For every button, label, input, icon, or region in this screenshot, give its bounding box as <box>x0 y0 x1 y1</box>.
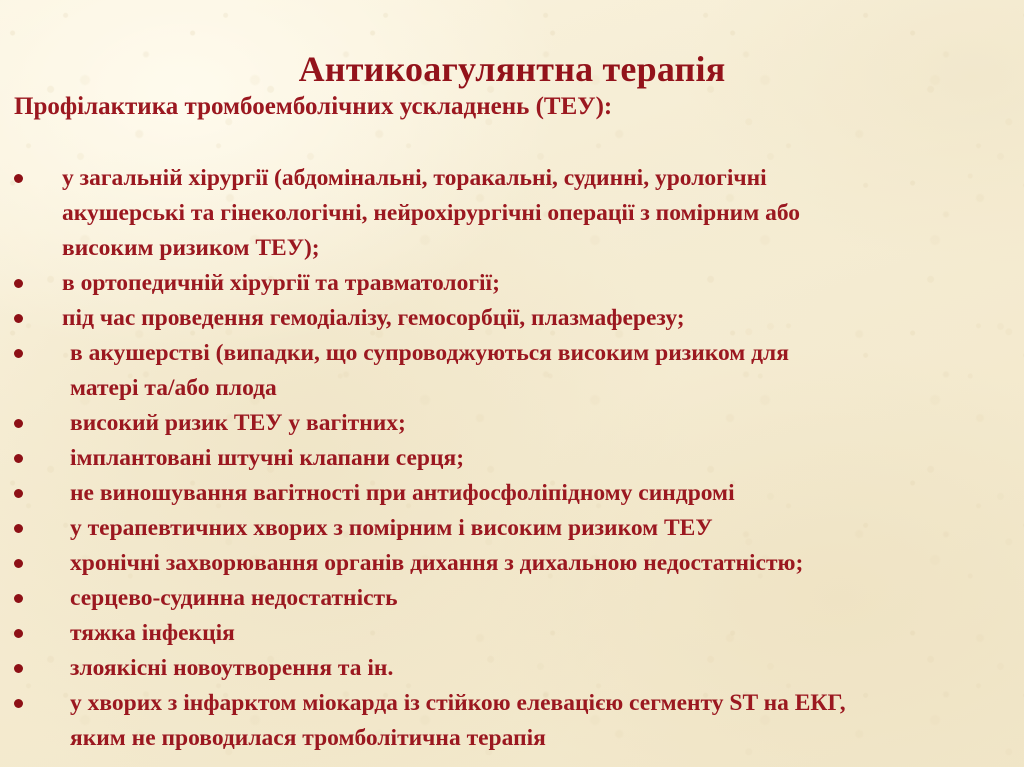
slide-background: Антикоагулянтна терапія Профілактика тро… <box>0 0 1024 767</box>
bullet-marker-icon <box>14 349 23 358</box>
bullet-marker-icon <box>14 314 23 323</box>
list-item: імплантовані штучні клапани серця; <box>0 441 1024 476</box>
list-item: у терапевтичних хворих з помірним і висо… <box>0 511 1024 546</box>
list-item: в ортопедичній хірургії та травматології… <box>0 266 1024 301</box>
list-item-label: у терапевтичних хворих з помірним і висо… <box>70 511 1024 546</box>
list-item: у хворих з інфарктом міокарда із стійкою… <box>0 686 1024 756</box>
list-item: серцево-судинна недостатність <box>0 581 1024 616</box>
slide-content: Антикоагулянтна терапія Профілактика тро… <box>0 0 1024 767</box>
list-item-label: не виношування вагітності при антифосфол… <box>70 476 1024 511</box>
bullet-marker-icon <box>14 419 23 428</box>
bullet-marker-icon <box>14 559 23 568</box>
list-item: у загальній хірургії (абдомінальні, тора… <box>0 161 1024 266</box>
list-item-label: високий ризик ТЕУ у вагітних; <box>70 406 1024 441</box>
bullet-marker-icon <box>14 524 23 533</box>
list-item: високий ризик ТЕУ у вагітних; <box>0 406 1024 441</box>
list-item: злоякісні новоутворення та ін. <box>0 651 1024 686</box>
list-item: хронічні захворювання органів дихання з … <box>0 546 1024 581</box>
bullet-marker-icon <box>14 699 23 708</box>
bullet-list: у загальній хірургії (абдомінальні, тора… <box>0 161 1024 756</box>
list-item-label: злоякісні новоутворення та ін. <box>70 651 1024 686</box>
list-item-label: імплантовані штучні клапани серця; <box>70 441 1024 476</box>
list-item-label: в ортопедичній хірургії та травматології… <box>62 266 1024 301</box>
list-item-label: хронічні захворювання органів дихання з … <box>70 546 1024 581</box>
list-item-label: серцево-судинна недостатність <box>70 581 1024 616</box>
bullet-marker-icon <box>14 454 23 463</box>
list-item-label: тяжка інфекція <box>70 616 1024 651</box>
page-title: Антикоагулянтна терапія <box>0 50 1024 90</box>
list-item-label: під час проведення гемодіалізу, гемосорб… <box>62 301 1024 336</box>
list-item-label: у хворих з інфарктом міокарда із стійкою… <box>70 686 1024 756</box>
list-item: в акушерстві (випадки, що супроводжуютьс… <box>0 336 1024 406</box>
list-item: тяжка інфекція <box>0 616 1024 651</box>
list-item: не виношування вагітності при антифосфол… <box>0 476 1024 511</box>
slide-subtitle: Профілактика тромбоемболічних ускладнень… <box>14 93 612 122</box>
bullet-marker-icon <box>14 279 23 288</box>
list-item-label: в акушерстві (випадки, що супроводжуютьс… <box>70 336 1024 406</box>
bullet-marker-icon <box>14 629 23 638</box>
list-item: під час проведення гемодіалізу, гемосорб… <box>0 301 1024 336</box>
bullet-marker-icon <box>14 594 23 603</box>
bullet-marker-icon <box>14 174 23 183</box>
list-item-label: у загальній хірургії (абдомінальні, тора… <box>62 161 1024 266</box>
bullet-marker-icon <box>14 664 23 673</box>
bullet-marker-icon <box>14 489 23 498</box>
